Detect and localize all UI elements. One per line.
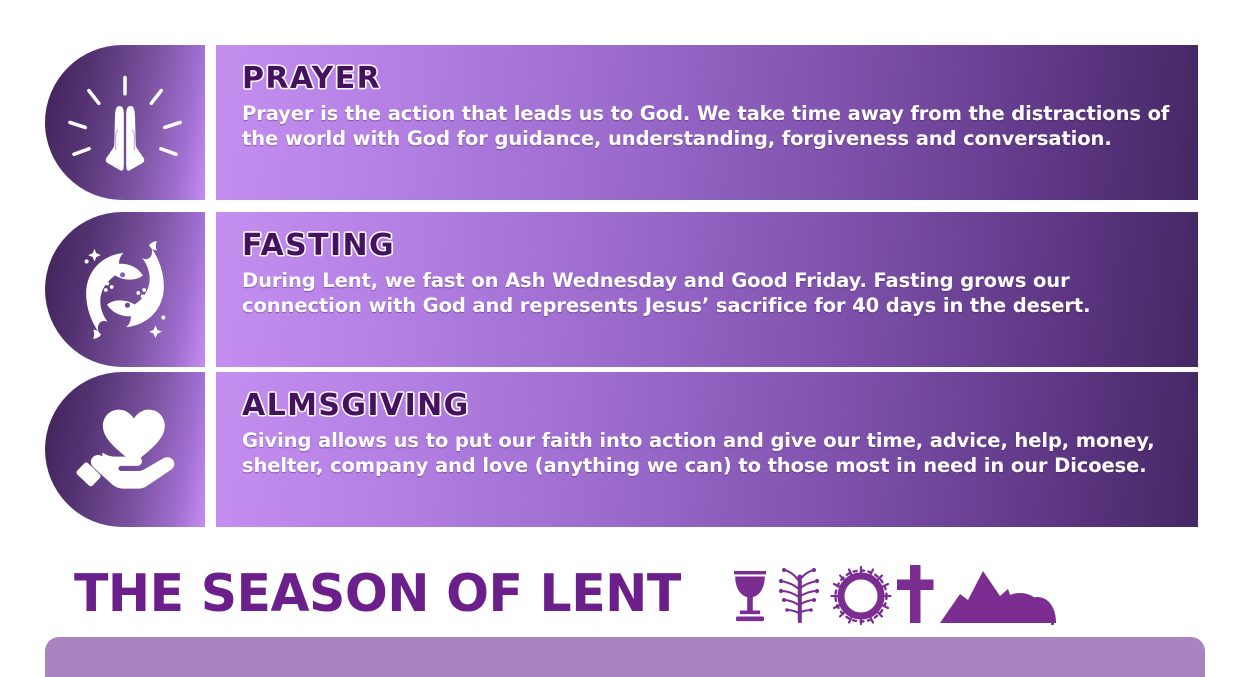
panel-body-prayer: Prayer is the action that leads us to Go… xyxy=(242,101,1172,153)
icon-panel-fasting xyxy=(45,212,205,367)
crown-of-thorns-icon xyxy=(830,565,892,625)
hand-holding-heart-icon xyxy=(64,395,186,505)
lent-symbol-group xyxy=(730,563,1056,625)
panel-almsgiving: ALMSGIVING Giving allows us to put our f… xyxy=(45,372,1198,527)
footer-bar xyxy=(45,637,1205,677)
praying-hands-icon xyxy=(66,64,184,182)
page-title: THE SEASON OF LENT xyxy=(74,568,681,620)
panel-body-fasting: During Lent, we fast on Ash Wednesday an… xyxy=(242,268,1172,320)
text-panel-almsgiving: ALMSGIVING Giving allows us to put our f… xyxy=(216,372,1198,527)
chalice-icon xyxy=(730,567,770,625)
tomb-hill-icon xyxy=(938,563,1056,625)
panel-heading-prayer: PRAYER xyxy=(242,63,1172,95)
footer-title-row: THE SEASON OF LENT xyxy=(0,558,1250,630)
text-panel-fasting: FASTING During Lent, we fast on Ash Wedn… xyxy=(216,212,1198,367)
panel-fasting: FASTING During Lent, we fast on Ash Wedn… xyxy=(45,212,1198,367)
icon-panel-prayer xyxy=(45,45,205,200)
text-panel-prayer: PRAYER Prayer is the action that leads u… xyxy=(216,45,1198,200)
icon-panel-almsgiving xyxy=(45,372,205,527)
palm-branch-icon xyxy=(772,565,828,625)
two-fish-icon xyxy=(66,231,184,349)
panel-body-almsgiving: Giving allows us to put our faith into a… xyxy=(242,428,1172,480)
panel-prayer: PRAYER Prayer is the action that leads u… xyxy=(45,45,1198,200)
panel-heading-fasting: FASTING xyxy=(242,230,1172,262)
cross-icon xyxy=(894,563,936,625)
panel-heading-almsgiving: ALMSGIVING xyxy=(242,390,1172,422)
